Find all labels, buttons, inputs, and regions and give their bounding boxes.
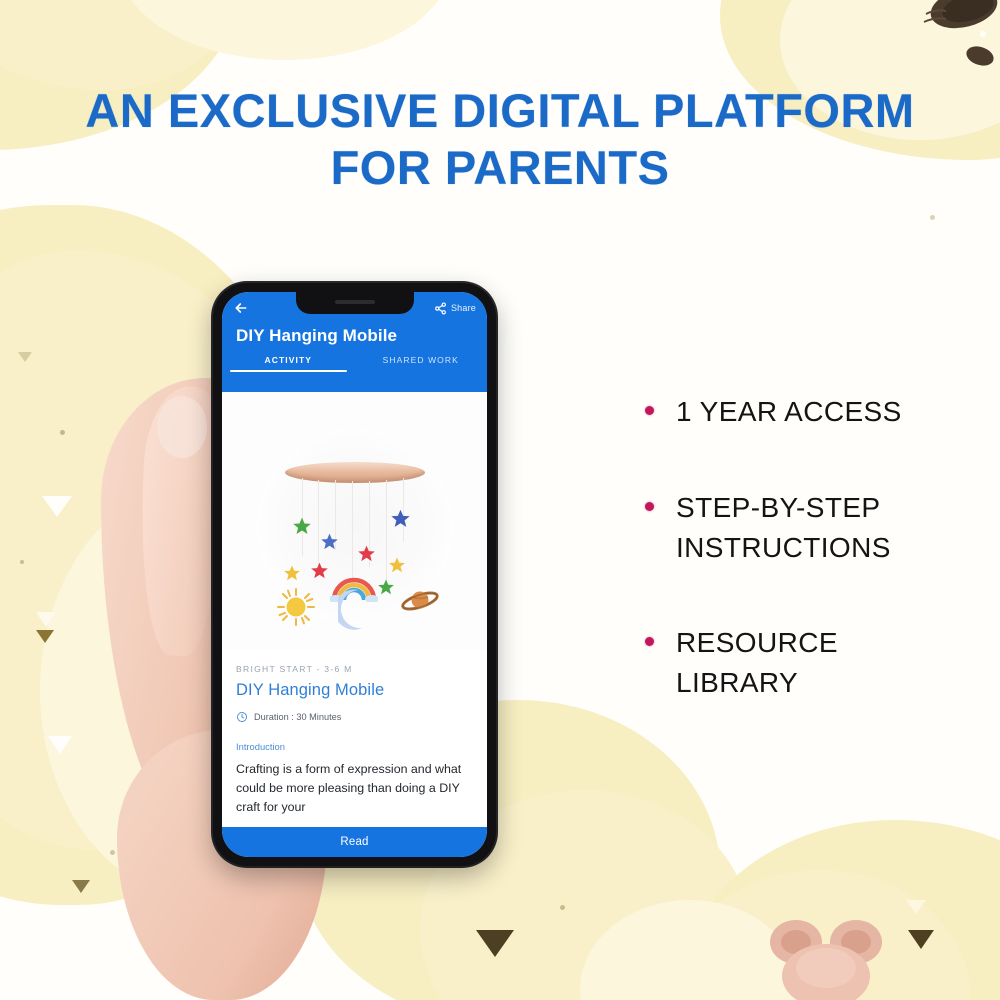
tab-activity[interactable]: ACTIVITY [222, 355, 355, 372]
star-yellow-2 [283, 564, 301, 582]
tab-shared-work[interactable]: SHARED WORK [355, 355, 488, 372]
confetti-triangle-olive-1 [36, 630, 54, 643]
clock-icon [236, 711, 248, 723]
introduction-label: Introduction [236, 741, 473, 752]
mobile-string-4 [352, 481, 353, 585]
activity-details: BRIGHT START - 3-6 M DIY Hanging Mobile … [222, 650, 487, 817]
star-red-1 [357, 544, 376, 563]
smartphone-device: Share DIY Hanging Mobile ACTIVITY SHARED… [213, 283, 496, 866]
feature-item-3: RESOURCELIBRARY [645, 623, 975, 703]
star-red-2 [310, 561, 329, 580]
critter-bottom-right [744, 898, 894, 1000]
duration-text: Duration : 30 Minutes [254, 712, 341, 722]
bullet-dot-icon [645, 637, 654, 646]
moon-icon [338, 588, 368, 635]
feature-label-2: STEP-BY-STEPINSTRUCTIONS [676, 488, 891, 568]
introduction-body: Crafting is a form of expression and wha… [236, 760, 473, 817]
bullet-dot-icon [645, 406, 654, 415]
confetti-dot-5 [930, 215, 935, 220]
sun-icon [277, 588, 315, 631]
saturn-icon [400, 586, 440, 621]
feature-label-1: 1 YEAR ACCESS [676, 392, 902, 432]
activity-title: DIY Hanging Mobile [236, 681, 473, 700]
critter-top-right [880, 0, 1000, 78]
promo-banner: AN EXCLUSIVE DIGITAL PLATFORM FOR PARENT… [0, 0, 1000, 1000]
feature-list: 1 YEAR ACCESS STEP-BY-STEPINSTRUCTIONS R… [645, 392, 975, 759]
star-blue-2 [390, 508, 411, 529]
activity-category: BRIGHT START - 3-6 M [236, 664, 473, 674]
confetti-triangle-white-1 [42, 496, 72, 517]
earpiece-speaker [335, 300, 375, 304]
confetti-triangle-white-2 [36, 612, 56, 627]
star-green-1 [292, 516, 312, 536]
star-green-2 [377, 578, 395, 596]
activity-duration: Duration : 30 Minutes [236, 711, 473, 723]
confetti-triangle-dark-2 [908, 930, 934, 949]
headline-line-1: AN EXCLUSIVE DIGITAL PLATFORM [85, 84, 914, 137]
star-yellow-1 [388, 556, 406, 574]
page-title: AN EXCLUSIVE DIGITAL PLATFORM FOR PARENT… [0, 82, 1000, 197]
star-blue-1 [320, 532, 339, 551]
back-arrow-icon[interactable] [233, 300, 249, 316]
app-title: DIY Hanging Mobile [222, 320, 487, 346]
app-tabs: ACTIVITY SHARED WORK [222, 355, 487, 372]
read-button-label: Read [340, 836, 368, 848]
feature-label-3: RESOURCELIBRARY [676, 623, 838, 703]
feature-item-2: STEP-BY-STEPINSTRUCTIONS [645, 488, 975, 568]
headline-line-2: FOR PARENTS [0, 139, 1000, 196]
confetti-triangle-white-3 [48, 736, 72, 754]
phone-notch [296, 292, 414, 314]
feature-item-1: 1 YEAR ACCESS [645, 392, 975, 432]
read-button[interactable]: Read [222, 827, 487, 857]
activity-hero-image [222, 392, 487, 650]
phone-screen: Share DIY Hanging Mobile ACTIVITY SHARED… [222, 292, 487, 857]
share-button[interactable]: Share [434, 302, 476, 315]
confetti-triangle-olive-3 [72, 880, 90, 893]
confetti-triangle-olive-4 [18, 352, 32, 362]
share-label: Share [451, 303, 476, 313]
confetti-dot-2 [20, 560, 24, 564]
bullet-dot-icon [645, 502, 654, 511]
confetti-dot-1 [60, 430, 65, 435]
share-icon [434, 302, 447, 315]
thumb-nail [157, 396, 207, 458]
confetti-triangle-white-4 [906, 900, 926, 914]
